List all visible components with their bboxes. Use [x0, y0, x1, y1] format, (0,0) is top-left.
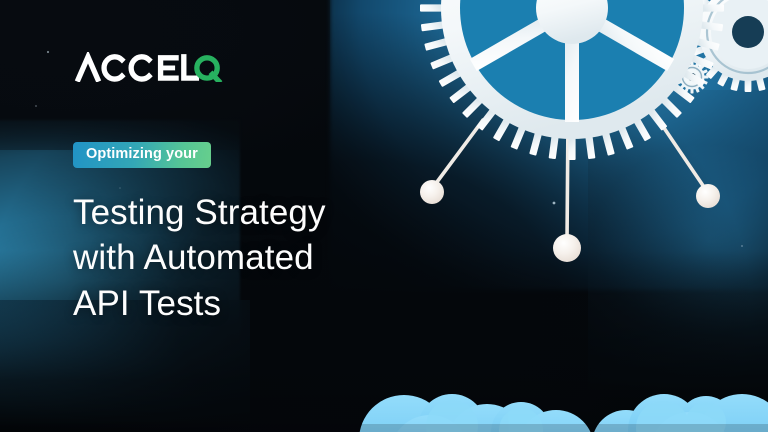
pendulum-right-ball: [696, 184, 720, 208]
pendulum-right-rod: [660, 122, 706, 190]
banner-root: ACCELQ Optimizing your: [0, 0, 768, 432]
pendulum-left-rod: [434, 120, 483, 186]
logo-accel-mark: [78, 57, 196, 79]
headline-line-2: with Automated: [73, 235, 433, 281]
headline-line-3: API Tests: [73, 281, 433, 327]
page-title: Testing Strategy with Automated API Test…: [73, 190, 433, 328]
headline-line-1: Testing Strategy: [73, 190, 433, 236]
hero-content: ACCELQ Optimizing your: [73, 52, 433, 350]
logo-q-mark: [197, 58, 219, 81]
accelq-logo[interactable]: ACCELQ: [73, 52, 223, 82]
eyebrow-badge: Optimizing your: [73, 142, 211, 168]
pendulum-center-ball: [553, 234, 581, 262]
